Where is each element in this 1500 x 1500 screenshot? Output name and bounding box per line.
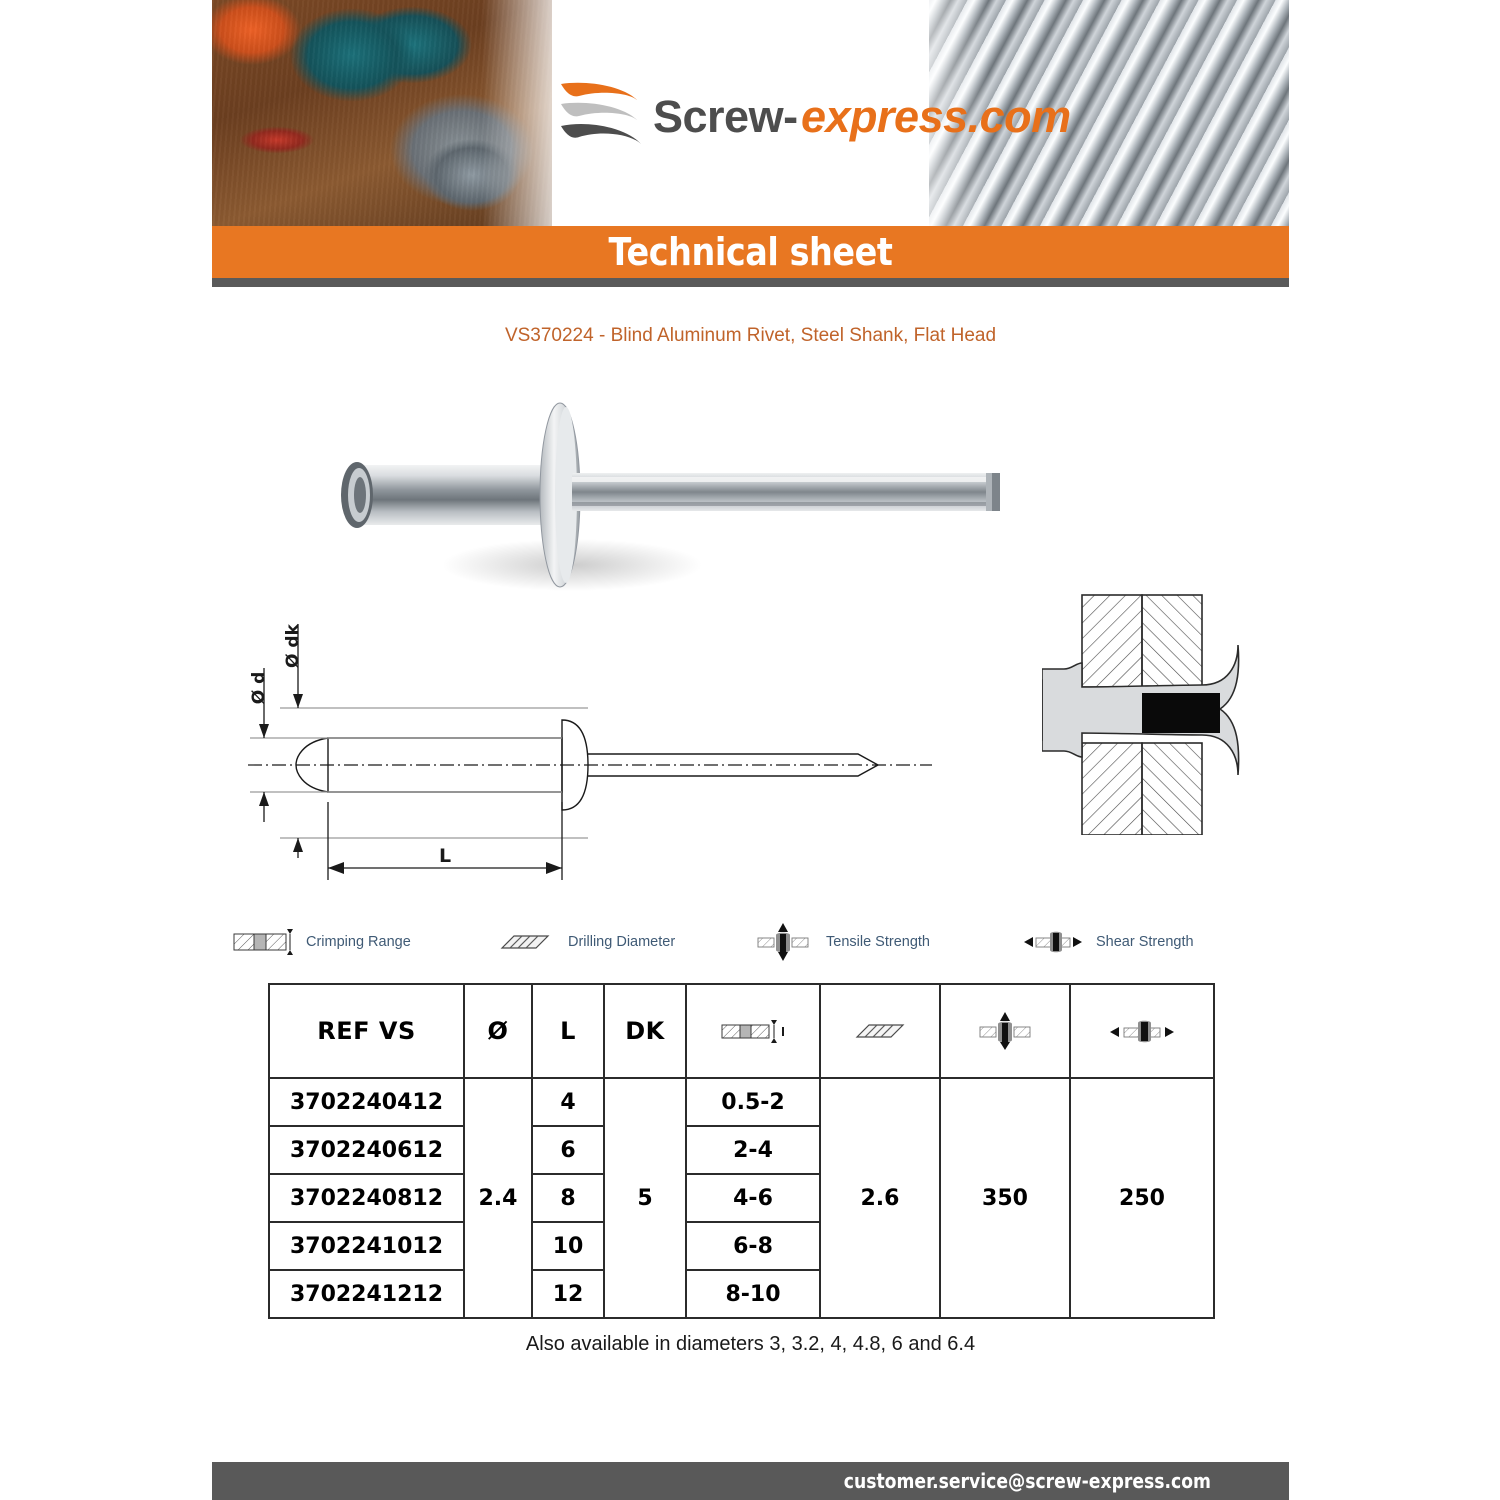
cell-length: 8 — [532, 1174, 604, 1222]
cell-length: 10 — [532, 1222, 604, 1270]
cross-section-plate-top-1 — [1082, 595, 1142, 687]
th-tensile — [940, 984, 1070, 1078]
cell-shear: 250 — [1070, 1078, 1214, 1318]
logo-swoosh-group — [561, 83, 641, 144]
drilling-diameter-icon — [494, 925, 556, 959]
cell-ref: 3702240812 — [269, 1174, 464, 1222]
crimping-range-icon — [232, 925, 294, 959]
tensile-strength-icon — [942, 986, 1068, 1076]
shear-strength-icon — [1022, 925, 1084, 959]
cell-crimping: 8-10 — [686, 1270, 820, 1318]
cell-ref: 3702241212 — [269, 1270, 464, 1318]
technical-drawing: Ø d Ø dk L — [232, 590, 972, 900]
availability-note: Also available in diameters 3, 3.2, 4, 4… — [212, 1333, 1289, 1356]
cell-length: 12 — [532, 1270, 604, 1318]
legend-label-drilling: Drilling Diameter — [568, 934, 675, 950]
cross-section-plate-top-2 — [1142, 595, 1202, 687]
cross-section-plate-bottom-1 — [1082, 743, 1142, 835]
cell-ref: 3702240412 — [269, 1078, 464, 1126]
th-ref: REF VS — [269, 984, 464, 1078]
th-shear — [1070, 984, 1214, 1078]
tensile-strength-icon — [752, 925, 814, 959]
cell-dk: 5 — [604, 1078, 686, 1318]
legend-item-shear: Shear Strength — [1022, 918, 1194, 966]
cross-section-plate-bottom-2 — [1142, 743, 1202, 835]
rivet-body — [357, 465, 552, 525]
specification-table: REF VS Ø L DK — [268, 983, 1215, 1319]
th-drilling — [820, 984, 940, 1078]
cell-length: 6 — [532, 1126, 604, 1174]
technical-sheet-page: Screw- express.com Technical sheet VS370… — [212, 0, 1289, 1500]
legend-label-crimping: Crimping Range — [306, 934, 411, 950]
cell-length: 4 — [532, 1078, 604, 1126]
contact-email[interactable]: customer.service@screw-express.com — [844, 1462, 1211, 1500]
cell-ref: 3702240612 — [269, 1126, 464, 1174]
dim-label-L: L — [439, 845, 451, 867]
footer-bar: customer.service@screw-express.com — [212, 1462, 1289, 1500]
page-title: VS370224 - Blind Aluminum Rivet, Steel S… — [212, 325, 1289, 347]
screw-express-logo[interactable]: Screw- express.com — [552, 78, 1162, 150]
logo-text-primary: Screw- — [653, 91, 798, 142]
legend-label-shear: Shear Strength — [1096, 934, 1194, 950]
cell-tensile: 350 — [940, 1078, 1070, 1318]
cell-diameter: 2.4 — [464, 1078, 532, 1318]
legend-item-tensile: Tensile Strength — [752, 918, 930, 966]
cell-crimping: 4-6 — [686, 1174, 820, 1222]
technical-sheet-banner: Technical sheet — [212, 226, 1289, 278]
logo-text-secondary: express.com — [801, 91, 1071, 142]
drilling-diameter-icon — [822, 986, 938, 1076]
cross-section-mandrel — [1142, 693, 1220, 733]
banner-underbar — [212, 278, 1289, 287]
header-image-band: Screw- express.com — [212, 0, 1289, 226]
cell-crimping: 2-4 — [686, 1126, 820, 1174]
dim-label-dia-d: Ø d — [249, 672, 269, 705]
legend-label-tensile: Tensile Strength — [826, 934, 930, 950]
legend-row: Crimping Range Drilling Diameter — [232, 918, 1272, 966]
cell-crimping: 6-8 — [686, 1222, 820, 1270]
legend-item-drilling: Drilling Diameter — [494, 918, 675, 966]
logo-swoosh-orange — [561, 83, 637, 100]
cell-ref: 3702241012 — [269, 1222, 464, 1270]
legend-item-crimping: Crimping Range — [232, 918, 411, 966]
logo-swoosh-dark — [561, 124, 641, 144]
th-length: L — [532, 984, 604, 1078]
dim-label-dia-dk: Ø dk — [283, 623, 303, 668]
th-crimping — [686, 984, 820, 1078]
product-photo — [302, 385, 1042, 610]
crimping-range-icon — [688, 986, 818, 1076]
th-dk: DK — [604, 984, 686, 1078]
shear-strength-icon — [1072, 986, 1212, 1076]
table-header-row: REF VS Ø L DK — [269, 984, 1214, 1078]
logo-swoosh-light — [561, 103, 637, 120]
banner-title: Technical sheet — [277, 226, 1225, 278]
cell-drilling: 2.6 — [820, 1078, 940, 1318]
dim-length-L — [328, 802, 562, 880]
cell-crimping: 0.5-2 — [686, 1078, 820, 1126]
table-row: 3702240412 2.4 4 5 0.5-2 2.6 350 250 — [269, 1078, 1214, 1126]
th-diameter: Ø — [464, 984, 532, 1078]
cross-section-diagram — [1042, 585, 1262, 835]
